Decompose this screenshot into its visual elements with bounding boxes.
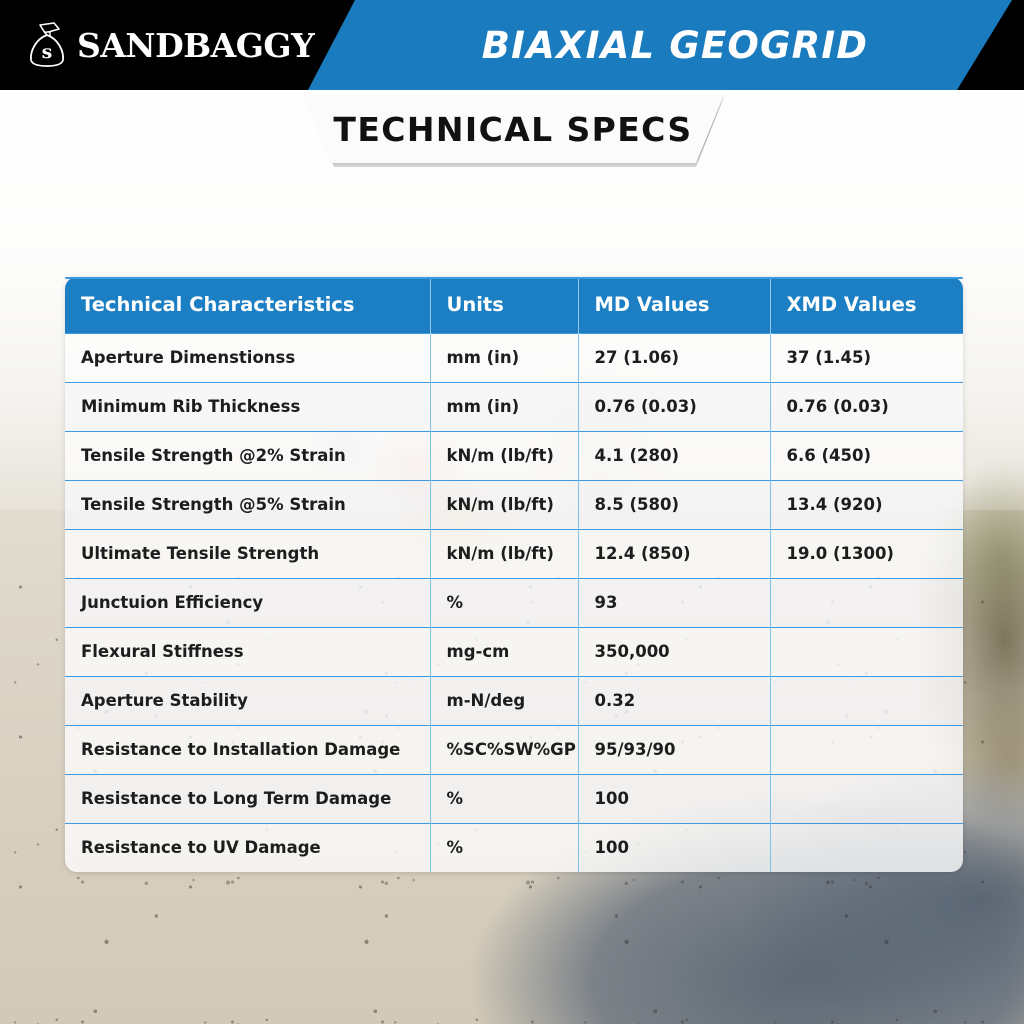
top-banner: s SANDBAGGY BIAXIAL GEOGRID	[0, 0, 1024, 90]
cell-xmd-value	[770, 676, 963, 725]
spec-sheet-page: s SANDBAGGY BIAXIAL GEOGRID TECHNICAL SP…	[0, 0, 1024, 1024]
cell-xmd-value	[770, 725, 963, 774]
technical-specs-tab-label: TECHNICAL SPECS	[333, 110, 692, 149]
table-header-row: Technical Characteristics Units MD Value…	[65, 277, 963, 333]
cell-units: mg-cm	[430, 627, 578, 676]
cell-xmd-value: 6.6 (450)	[770, 431, 963, 480]
cell-md-value: 350,000	[578, 627, 770, 676]
column-header-md-values: MD Values	[578, 277, 770, 333]
column-header-characteristics: Technical Characteristics	[65, 277, 430, 333]
table-body: Aperture Dimenstionssmm (in)27 (1.06)37 …	[65, 333, 963, 872]
cell-characteristic: Tensile Strength @5% Strain	[65, 480, 430, 529]
cell-xmd-value: 13.4 (920)	[770, 480, 963, 529]
cell-xmd-value	[770, 774, 963, 823]
cell-characteristic: Tensile Strength @2% Strain	[65, 431, 430, 480]
cell-units: mm (in)	[430, 382, 578, 431]
cell-md-value: 93	[578, 578, 770, 627]
cell-xmd-value	[770, 627, 963, 676]
cell-md-value: 27 (1.06)	[578, 333, 770, 382]
cell-units: mm (in)	[430, 333, 578, 382]
table-row: Aperture Dimenstionssmm (in)27 (1.06)37 …	[65, 333, 963, 382]
column-header-units: Units	[430, 277, 578, 333]
cell-md-value: 95/93/90	[578, 725, 770, 774]
brand-name: SANDBAGGY	[77, 29, 314, 62]
cell-md-value: 100	[578, 774, 770, 823]
cell-characteristic: Aperture Dimenstionss	[65, 333, 430, 382]
banner-title: BIAXIAL GEOGRID	[355, 0, 995, 90]
cell-characteristic: Resistance to UV Damage	[65, 823, 430, 872]
cell-units: kN/m (lb/ft)	[430, 431, 578, 480]
brand-logo[interactable]: s SANDBAGGY	[26, 16, 314, 74]
cell-characteristic: Resistance to Installation Damage	[65, 725, 430, 774]
cell-characteristic: Ultimate Tensile Strength	[65, 529, 430, 578]
table-row: Flexural Stiffnessmg-cm350,000	[65, 627, 963, 676]
cell-characteristic: Resistance to Long Term Damage	[65, 774, 430, 823]
cell-units: kN/m (lb/ft)	[430, 529, 578, 578]
table-row: Aperture Stabilitym-N/deg0.32	[65, 676, 963, 725]
table-row: Junctuion Efficiency%93	[65, 578, 963, 627]
cell-xmd-value	[770, 578, 963, 627]
cell-md-value: 4.1 (280)	[578, 431, 770, 480]
cell-characteristic: Flexural Stiffness	[65, 627, 430, 676]
cell-units: %SC%SW%GP	[430, 725, 578, 774]
cell-md-value: 8.5 (580)	[578, 480, 770, 529]
table-row: Resistance to Installation Damage%SC%SW%…	[65, 725, 963, 774]
cell-md-value: 0.32	[578, 676, 770, 725]
table-row: Resistance to UV Damage%100	[65, 823, 963, 872]
cell-units: kN/m (lb/ft)	[430, 480, 578, 529]
table-row: Minimum Rib Thicknessmm (in)0.76 (0.03)0…	[65, 382, 963, 431]
cell-md-value: 0.76 (0.03)	[578, 382, 770, 431]
cell-xmd-value	[770, 823, 963, 872]
table-row: Tensile Strength @5% StrainkN/m (lb/ft)8…	[65, 480, 963, 529]
technical-specs-table: Technical Characteristics Units MD Value…	[65, 277, 963, 872]
cell-xmd-value: 37 (1.45)	[770, 333, 963, 382]
table-row: Resistance to Long Term Damage%100	[65, 774, 963, 823]
cell-units: m-N/deg	[430, 676, 578, 725]
table-row: Ultimate Tensile StrengthkN/m (lb/ft)12.…	[65, 529, 963, 578]
sandbag-icon: s	[26, 22, 68, 68]
cell-characteristic: Aperture Stability	[65, 676, 430, 725]
cell-xmd-value: 0.76 (0.03)	[770, 382, 963, 431]
cell-xmd-value: 19.0 (1300)	[770, 529, 963, 578]
cell-md-value: 12.4 (850)	[578, 529, 770, 578]
spec-table-container: Technical Characteristics Units MD Value…	[65, 277, 963, 872]
cell-characteristic: Minimum Rib Thickness	[65, 382, 430, 431]
cell-units: %	[430, 823, 578, 872]
column-header-xmd-values: XMD Values	[770, 277, 963, 333]
cell-md-value: 100	[578, 823, 770, 872]
technical-specs-tab: TECHNICAL SPECS	[282, 95, 744, 163]
cell-characteristic: Junctuion Efficiency	[65, 578, 430, 627]
table-row: Tensile Strength @2% StrainkN/m (lb/ft)4…	[65, 431, 963, 480]
svg-text:s: s	[42, 41, 53, 63]
cell-units: %	[430, 578, 578, 627]
cell-units: %	[430, 774, 578, 823]
